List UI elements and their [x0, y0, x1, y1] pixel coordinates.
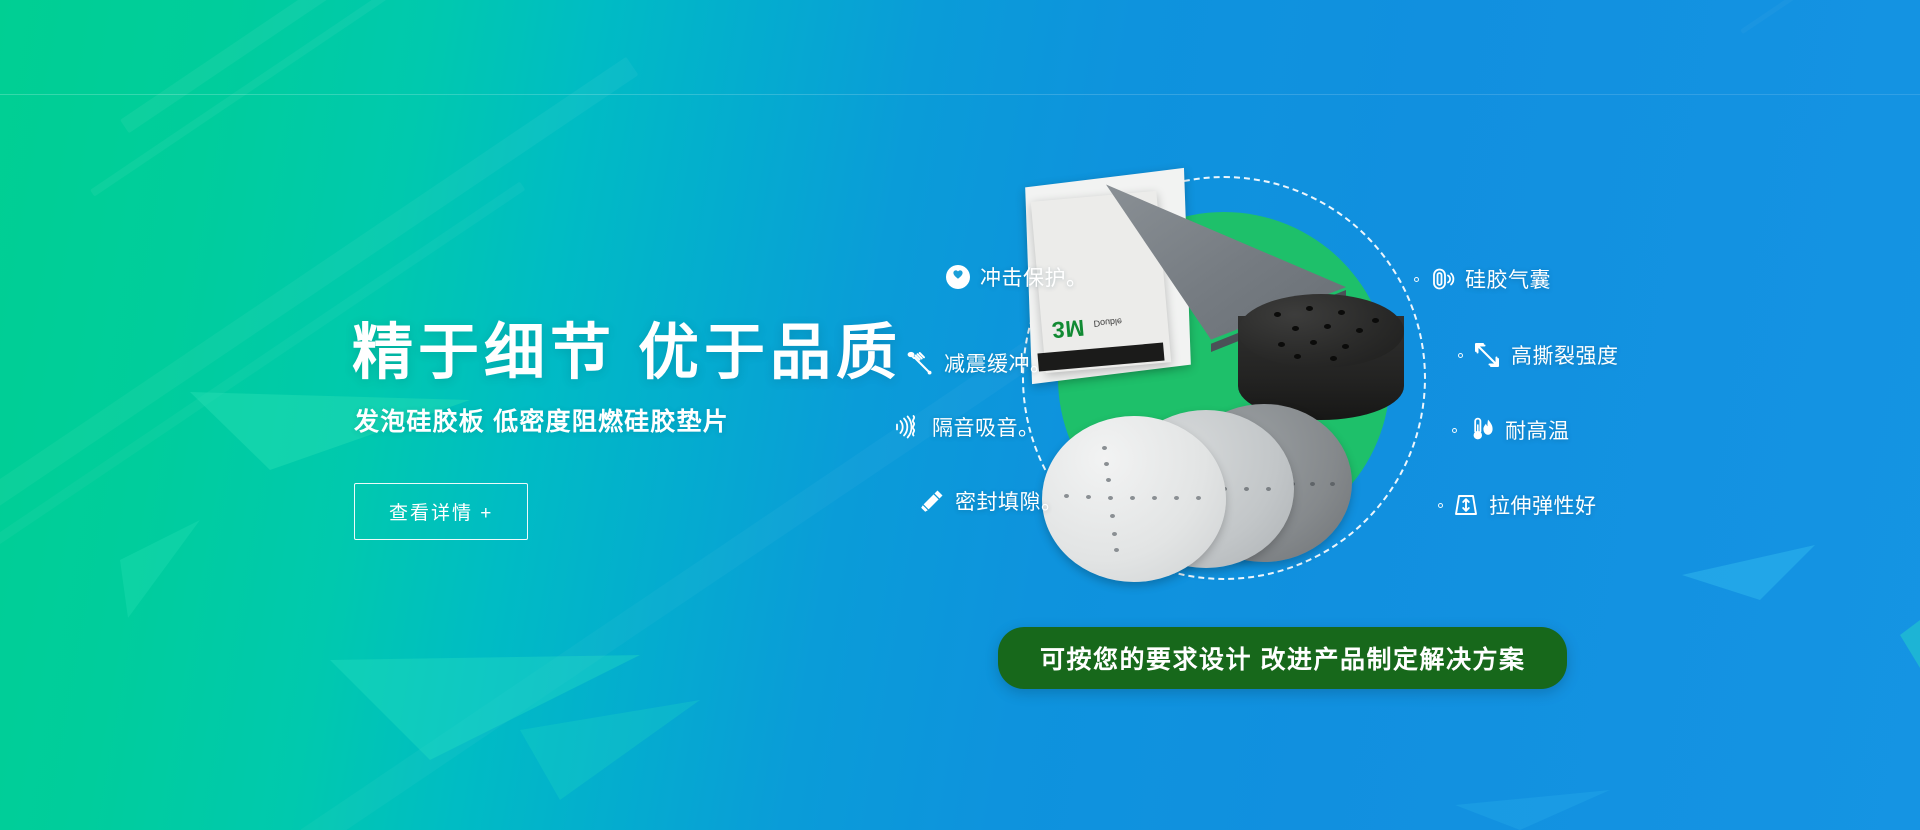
hero-banner: 精于细节 优于品质 发泡硅胶板 低密度阻燃硅胶垫片 查看详情 + 3M Doub…	[0, 0, 1920, 830]
feature-impact-protection[interactable]: 冲击保护。	[945, 262, 1088, 292]
sound-wave-icon	[893, 412, 923, 442]
stretch-arrow-icon	[1452, 491, 1480, 519]
header-divider-line	[0, 94, 1920, 95]
feature-tear-strength[interactable]: 高撕裂强度	[1458, 340, 1619, 370]
shield-impact-icon	[945, 264, 971, 290]
feature-tensile-elasticity[interactable]: 拉伸弹性好	[1438, 490, 1597, 520]
view-details-button[interactable]: 查看详情 +	[354, 483, 528, 540]
airbag-capsule-icon	[1428, 265, 1456, 293]
sealant-pen-icon	[918, 487, 946, 515]
feature-label: 耐高温	[1505, 415, 1570, 445]
feature-label: 高撕裂强度	[1511, 340, 1619, 370]
solution-ribbon[interactable]: 可按您的要求设计 改进产品制定解决方案	[998, 627, 1567, 689]
shock-absorber-icon	[905, 348, 935, 378]
feature-label: 减震缓冲。	[944, 348, 1052, 378]
feature-label: 隔音吸音。	[932, 412, 1040, 442]
feature-shock-absorption[interactable]: 减震缓冲。	[905, 348, 1052, 378]
feature-label: 硅胶气囊	[1465, 264, 1551, 294]
connector-dot	[1458, 353, 1463, 358]
page-title: 精于细节 优于品质	[352, 320, 972, 384]
feature-sound-insulation[interactable]: 隔音吸音。	[893, 412, 1040, 442]
page-subtitle: 发泡硅胶板 低密度阻燃硅胶垫片	[354, 402, 972, 438]
feature-seal-gap-filling[interactable]: 密封填隙。	[918, 486, 1063, 516]
feature-label: 拉伸弹性好	[1489, 490, 1597, 520]
feature-label: 密封填隙。	[955, 486, 1063, 516]
tear-strength-arrows-icon	[1472, 340, 1502, 370]
feature-high-temperature[interactable]: 耐高温	[1452, 415, 1570, 445]
connector-dot	[1414, 277, 1419, 282]
feature-silicone-airbag[interactable]: 硅胶气囊	[1414, 264, 1551, 294]
thermometer-flame-icon	[1466, 415, 1496, 445]
white-perforated-disc	[1042, 416, 1226, 582]
feature-label: 冲击保护。	[980, 262, 1088, 292]
connector-dot	[1438, 503, 1443, 508]
hero-copy: 精于细节 优于品质 发泡硅胶板 低密度阻燃硅胶垫片 查看详情 +	[352, 320, 972, 540]
connector-dot	[1452, 428, 1457, 433]
product-stage: 3M Double Coated tape 3M Double Coated t…	[1000, 160, 1470, 600]
